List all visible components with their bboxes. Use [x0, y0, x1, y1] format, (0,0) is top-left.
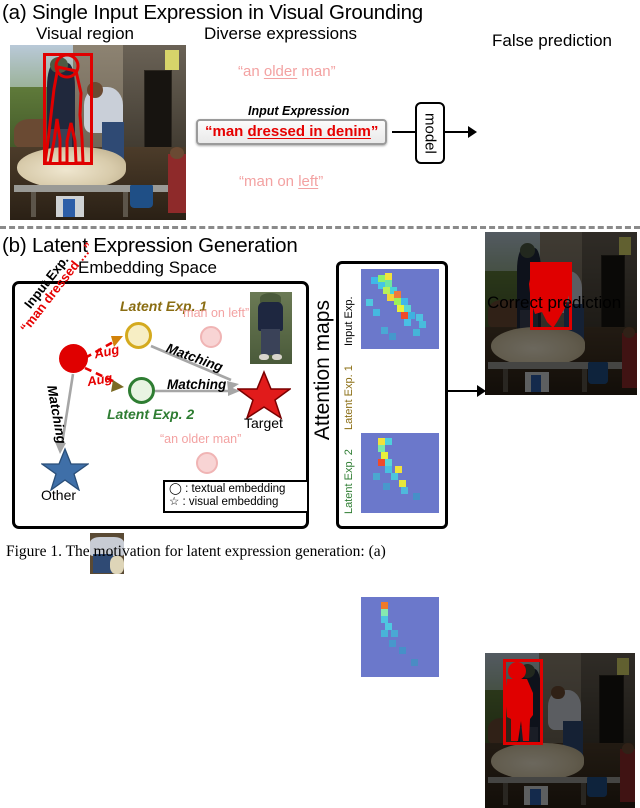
- attention-maps-label: Attention maps: [311, 300, 335, 440]
- target-star-icon: [237, 370, 291, 420]
- embedding-legend: ◯ : textual embedding ☆ : visual embeddi…: [163, 480, 309, 513]
- arrow-right-icon: [477, 385, 486, 397]
- expr-text-part: man”: [297, 63, 335, 80]
- input-expression-box[interactable]: “man dressed in denim”: [196, 119, 387, 145]
- panel-b-title: (b) Latent Expression Generation: [2, 234, 298, 258]
- expression-older-man: “an older man”: [238, 63, 336, 80]
- expr-text-underlined: dressed in denim: [248, 123, 371, 140]
- man-on-left-text: “man on left”: [179, 306, 249, 320]
- older-man-text: “an older man”: [160, 432, 241, 446]
- expr-text-underlined: older: [264, 63, 297, 80]
- attention-row-1-label: Input Exp.: [343, 272, 355, 346]
- connector-line: [443, 131, 469, 133]
- expression-man-on-left: “man on left”: [239, 173, 323, 190]
- expr-text-part: ”: [318, 173, 323, 190]
- attention-maps-box: Input Exp.: [336, 261, 448, 529]
- other-star-icon: [41, 447, 89, 491]
- visual-region-label: Visual region: [36, 24, 134, 44]
- false-prediction-label: False prediction: [492, 31, 612, 51]
- older-man-node: [196, 452, 218, 474]
- model-label: model: [422, 113, 439, 154]
- correct-prediction-image: [485, 653, 635, 808]
- visual-region-image: [10, 45, 186, 220]
- input-expression-label: Input Expression: [248, 104, 349, 118]
- latent-exp-1-node: [125, 322, 152, 349]
- attention-map-3: [361, 597, 439, 677]
- legend-item-textual: ◯ : textual embedding: [169, 483, 303, 496]
- input-expression-node: [59, 344, 88, 373]
- ground-truth-box: [43, 53, 93, 165]
- expr-text-part: ”: [371, 123, 379, 140]
- connector-line: [448, 390, 478, 392]
- correct-prediction-box: [503, 659, 543, 745]
- diverse-expressions-label: Diverse expressions: [204, 24, 357, 44]
- matching-label-2: Matching: [167, 377, 226, 392]
- figure-caption: Figure 1. The motivation for latent expr…: [6, 543, 386, 561]
- expr-text-underlined: left: [298, 173, 318, 190]
- latent-exp-2-label: Latent Exp. 2: [107, 406, 194, 422]
- arrow-right-icon: [468, 126, 477, 138]
- embedding-space-label: Embedding Space: [78, 258, 217, 278]
- correct-prediction-label: Correct prediction: [487, 293, 621, 313]
- expr-text-part: “man: [205, 123, 248, 140]
- attention-map-2: [361, 433, 439, 513]
- latent-exp-2-node: [128, 377, 155, 404]
- section-divider: [0, 226, 640, 229]
- embedding-space-box: Input Exp. “man dressed …” Latent Exp. 1…: [12, 281, 309, 529]
- attention-row-3-label: Latent Exp. 2: [343, 440, 355, 514]
- attention-row-2-label: Latent Exp. 1: [343, 356, 355, 430]
- expr-text-part: “man on: [239, 173, 298, 190]
- legend-item-visual: ☆ : visual embedding: [169, 496, 303, 509]
- panel-a-title: (a) Single Input Expression in Visual Gr…: [2, 1, 423, 25]
- target-label: Target: [244, 415, 283, 431]
- other-label: Other: [41, 487, 76, 503]
- expr-text-part: “an: [238, 63, 264, 80]
- target-thumbnail: [250, 292, 292, 364]
- false-prediction-image: [485, 232, 637, 395]
- model-box: model: [415, 102, 445, 164]
- region-outline-icon: [10, 45, 186, 220]
- man-on-left-node: [200, 326, 222, 348]
- attention-map-1: [361, 269, 439, 349]
- connector-line: [392, 131, 415, 133]
